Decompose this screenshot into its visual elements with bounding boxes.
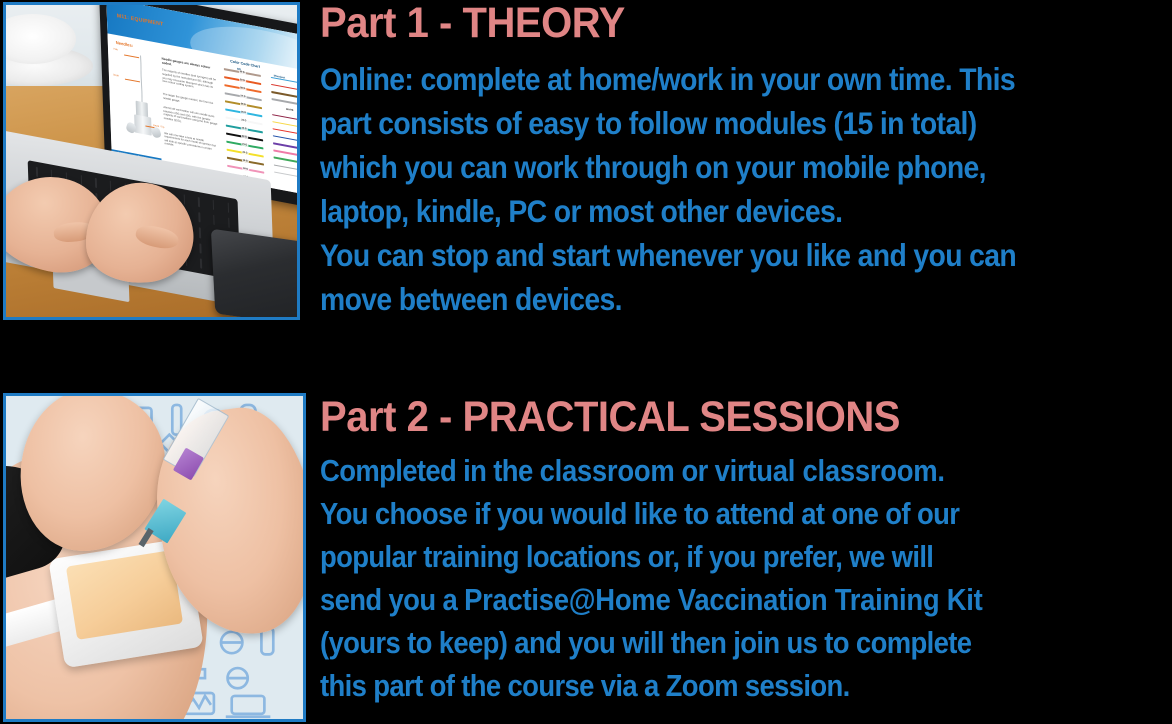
part-2-text-5-0: this part of the course via a Zoom sessi… [320, 669, 850, 703]
bd-bar-10: 20 G [227, 149, 264, 158]
needle-barrel [134, 114, 152, 136]
needle-leader-0 [124, 54, 139, 57]
part-2-text-0-0: Completed in the [320, 454, 540, 488]
part-1-heading: Part 1 - THEORY [320, 2, 1112, 45]
bd-gauge-9: 21 G [241, 143, 248, 147]
keyboard-key [213, 199, 215, 210]
bd-bar-0: 30 G [224, 68, 261, 77]
bd-bar-5: 25 G [225, 108, 262, 117]
part-2-text-0-2: or [674, 454, 714, 488]
part-2-line-5: this part of the course via a Zoom sessi… [320, 665, 1087, 708]
needle-diagram: Hub Shaft Bevel / Tip [124, 52, 160, 142]
monoject-bar-13 [274, 171, 300, 179]
part-1-line-0: Online: complete at home/work in your ow… [320, 57, 1087, 101]
bd-bar-6: 24 G [226, 116, 263, 125]
bd-bar-9: 21 G [226, 141, 263, 150]
part-2-emphasis-0-3: virtual classroom [715, 454, 938, 488]
keyboard-key [110, 180, 112, 191]
smartphone-on-desk [210, 228, 300, 320]
part-1-line-5: move between devices. [320, 277, 1087, 321]
keyboard-key [95, 177, 97, 188]
slide-subtitle: Needles: [116, 40, 134, 48]
bd-bar-4: 26 G [225, 100, 262, 109]
part-2-emphasis-0-1: classroom [540, 454, 675, 488]
monoject-gauge-4: WHITE [285, 108, 294, 112]
part-2-line-0: Completed in the classroom or virtual cl… [320, 450, 1087, 493]
bd-gauge-2: 28 G [239, 87, 246, 91]
part-2-heading: Part 2 - PRACTICAL SESSIONS [320, 396, 1112, 439]
bd-gauge-0: 30 G [239, 71, 246, 75]
needle-leader-1 [125, 79, 140, 82]
needle-label-1: Shaft [113, 74, 119, 78]
keyboard-key [228, 217, 230, 228]
keyboard-key [199, 227, 201, 238]
color-code-chart: Color Code Chart BD Monoject 30 G29 G28 … [224, 58, 300, 183]
keyboard-key [184, 194, 186, 205]
part-1-line-4: You can stop and start whenever you like… [320, 233, 1087, 277]
part-2-emphasis-3-1: Practise@Home Vaccination Training Kit [464, 583, 982, 617]
part-2-line-2: popular training locations or, if you pr… [320, 536, 1087, 579]
slide-paragraph-3: We will now take a look at needle requir… [164, 132, 219, 157]
monoject-bar-11 [273, 157, 300, 165]
part-2-text-1-0: You choose if you would like to attend a… [320, 497, 959, 531]
needle-wing-right [150, 127, 162, 138]
keyboard-key [200, 243, 202, 254]
keyboard-key [81, 175, 83, 186]
slide-paragraph-2: Almost all vaccination will use needle s… [163, 106, 218, 131]
bd-gauge-4: 26 G [240, 103, 247, 107]
bd-gauge-3: 27 G [240, 95, 247, 99]
slide-page: M11: EQUIPMENT Needles: Hub Shaft Bevel … [0, 0, 1172, 724]
part-2-text-2-0: popular training locations or, if you pr… [320, 540, 933, 574]
bd-gauge-12: 18 G [242, 168, 249, 172]
chart-column-bd: 30 G29 G28 G27 G26 G25 G24 G23 G22 G21 G… [224, 68, 264, 171]
bd-bar-8: 22 G [226, 133, 263, 142]
vaccination-practice-pad-photo [3, 393, 306, 722]
bd-gauge-5: 25 G [240, 111, 247, 115]
bd-bar-7: 23 G [226, 124, 263, 133]
bd-bar-1: 29 G [224, 76, 261, 85]
bd-gauge-8: 22 G [241, 135, 248, 139]
part-1-line-1: part consists of easy to follow modules … [320, 101, 1087, 145]
part-2-line-1: You choose if you would like to attend a… [320, 493, 1087, 536]
bd-gauge-7: 23 G [241, 127, 248, 131]
keyboard-key [214, 215, 216, 226]
monoject-bar-5 [272, 114, 300, 122]
keyboard-key [36, 166, 38, 177]
part-1-body: Online: complete at home/work in your ow… [320, 57, 1172, 321]
laptop-elearning-photo: M11: EQUIPMENT Needles: Hub Shaft Bevel … [3, 2, 300, 320]
part-2-block: Part 2 - PRACTICAL SESSIONS Completed in… [320, 396, 1172, 708]
part-1-line-2: which you can work through on your mobil… [320, 145, 1087, 189]
part-2-text-3-0: send you a [320, 583, 464, 617]
monoject-bar-3 [271, 98, 300, 106]
chart-column-monoject: WHITE [270, 77, 300, 180]
needle-label-0: Hub [114, 47, 118, 51]
keyboard-key [198, 197, 200, 208]
bd-gauge-6: 24 G [240, 119, 247, 123]
keyboard-key [228, 202, 230, 213]
keyboard-key [201, 258, 203, 269]
part-2-line-3: send you a Practise@Home Vaccination Tra… [320, 579, 1087, 622]
part-1-line-3: laptop, kindle, PC or most other devices… [320, 189, 1087, 233]
right-hand-finger [133, 223, 179, 251]
part-2-body: Completed in the classroom or virtual cl… [320, 450, 1172, 708]
part-2-text-4-0: (yours to keep) and you will then join u… [320, 626, 971, 660]
part-2-text-0-4: . [937, 454, 944, 488]
keyboard-key [199, 212, 201, 223]
part-1-block: Part 1 - THEORY Online: complete at home… [320, 2, 1172, 321]
bd-gauge-10: 20 G [241, 151, 248, 155]
bd-bar-2: 28 G [224, 84, 261, 93]
bd-gauge-11: 19 G [242, 159, 249, 163]
bd-gauge-1: 29 G [239, 79, 246, 83]
bd-bar-3: 27 G [225, 92, 262, 101]
monoject-bar-4: WHITE [271, 106, 300, 115]
needle-shaft [140, 55, 143, 104]
part-2-line-4: (yours to keep) and you will then join u… [320, 622, 1087, 665]
bd-bar-11: 19 G [227, 157, 264, 166]
